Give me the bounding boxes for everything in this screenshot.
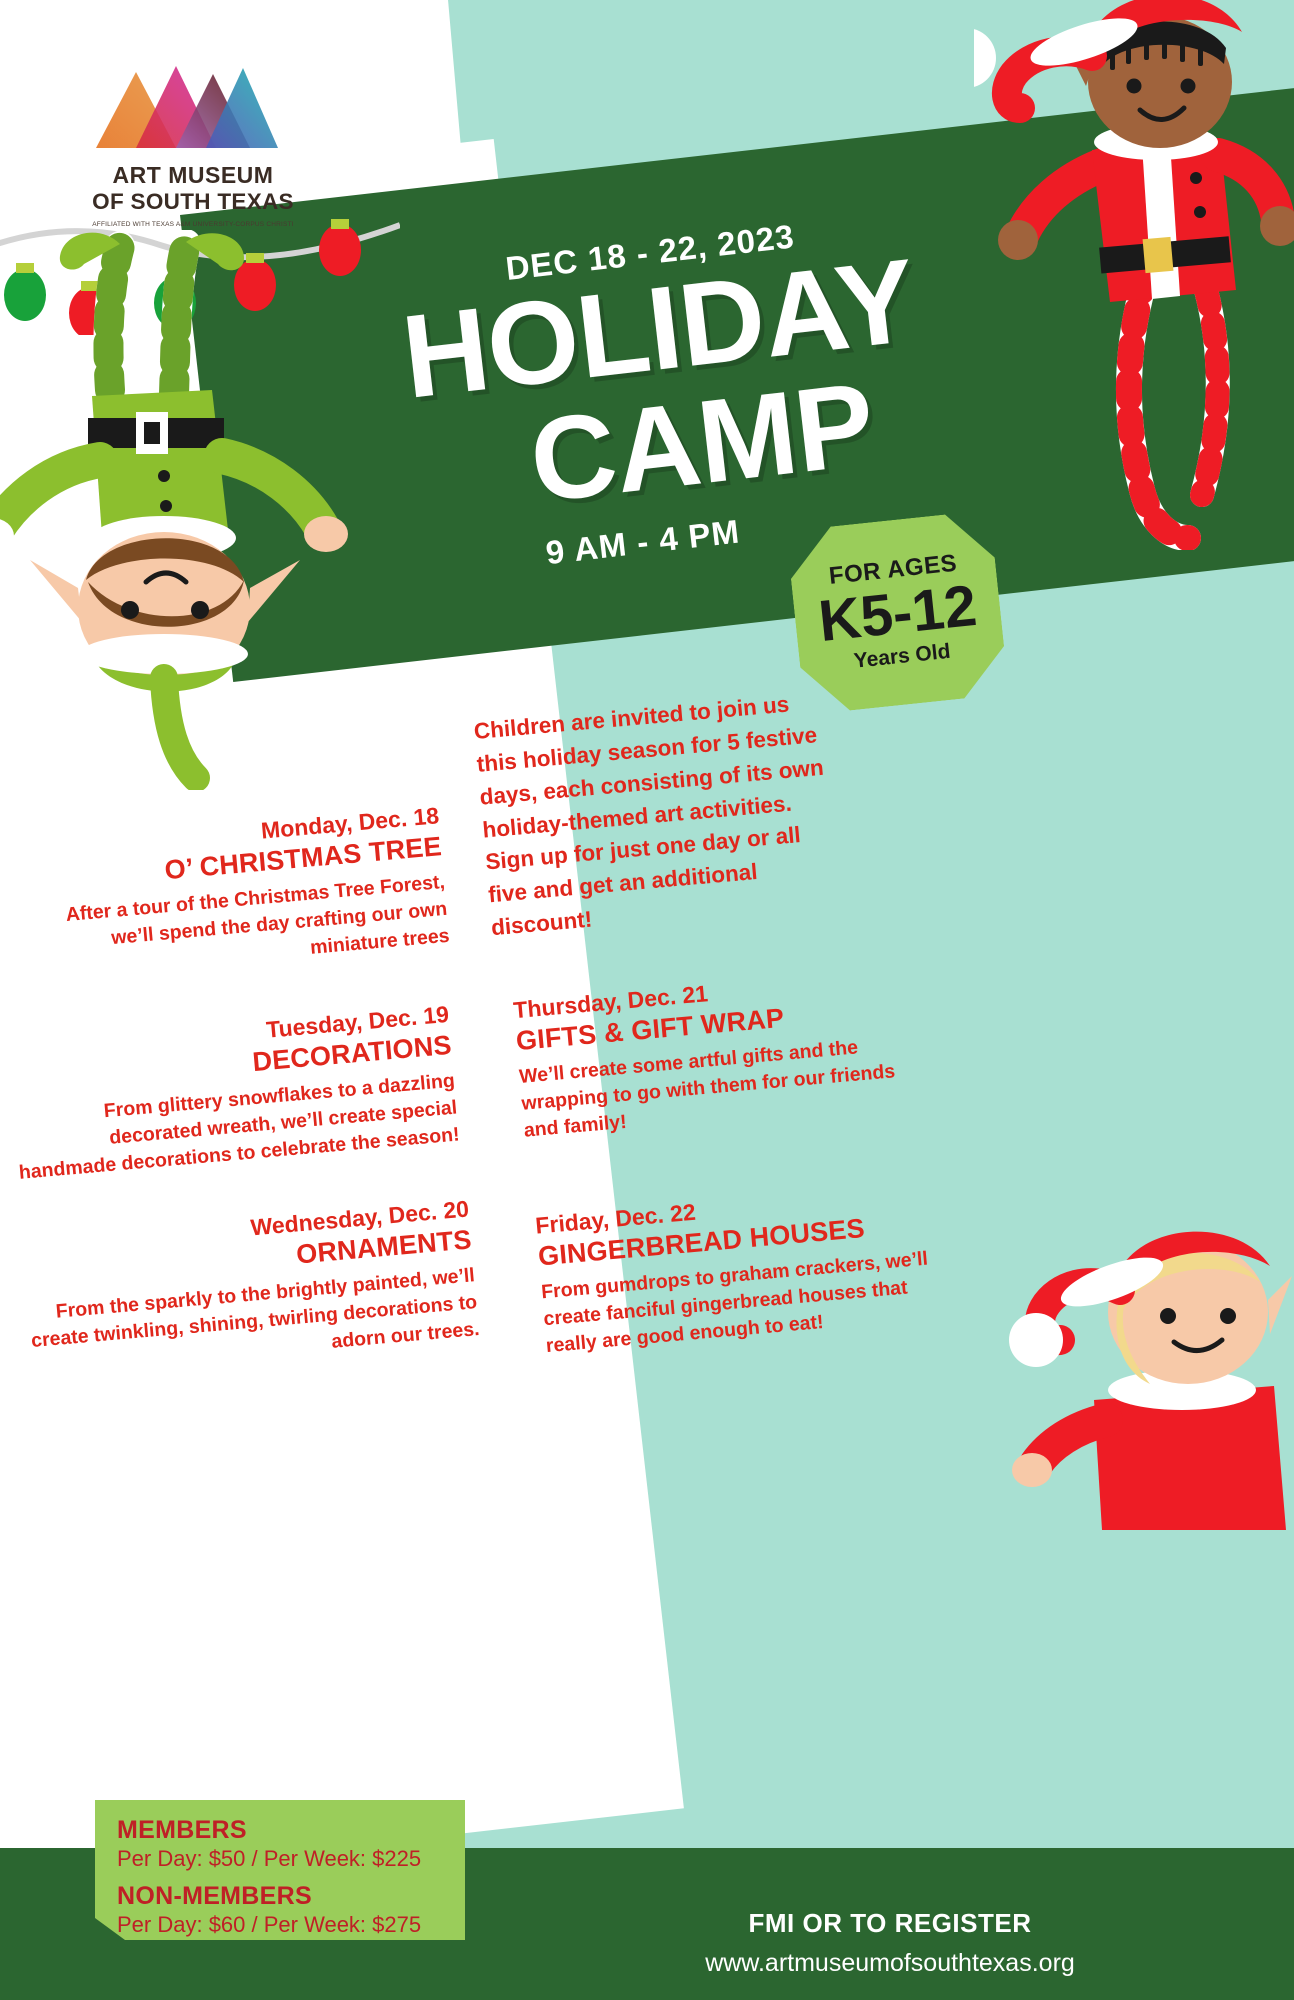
poster-root: ART MUSEUM OF SOUTH TEXAS AFFILIATED WIT… xyxy=(0,0,1294,2000)
logo-affiliation: AFFILIATED WITH TEXAS A&M UNIVERSITY-COR… xyxy=(88,221,298,228)
logo-name-line1: ART MUSEUM xyxy=(88,163,298,189)
intro-paragraph: Children are invited to join us this hol… xyxy=(473,685,852,945)
nonmembers-rates: Per Day: $60 / Per Week: $275 xyxy=(117,1912,465,1938)
ages-range: K5-12 xyxy=(816,576,979,653)
elf-character-top-right xyxy=(974,0,1294,550)
footer-cta: FMI OR TO REGISTER xyxy=(540,1908,1240,1939)
pricing-tag: MEMBERS Per Day: $50 / Per Week: $225 NO… xyxy=(95,1800,465,1940)
footer-contact: FMI OR TO REGISTER www.artmuseumofsoutht… xyxy=(540,1908,1240,1978)
footer-website[interactable]: www.artmuseumofsouthtexas.org xyxy=(540,1949,1240,1978)
logo-mountains-icon xyxy=(88,60,278,150)
logo-name-line2: OF SOUTH TEXAS xyxy=(88,189,298,215)
elf-character-bottom-right xyxy=(974,1190,1294,1530)
members-label: MEMBERS xyxy=(117,1816,465,1845)
members-rates: Per Day: $50 / Per Week: $225 xyxy=(117,1846,465,1872)
nonmembers-label: NON-MEMBERS xyxy=(117,1882,465,1911)
museum-logo: ART MUSEUM OF SOUTH TEXAS AFFILIATED WIT… xyxy=(88,60,298,228)
